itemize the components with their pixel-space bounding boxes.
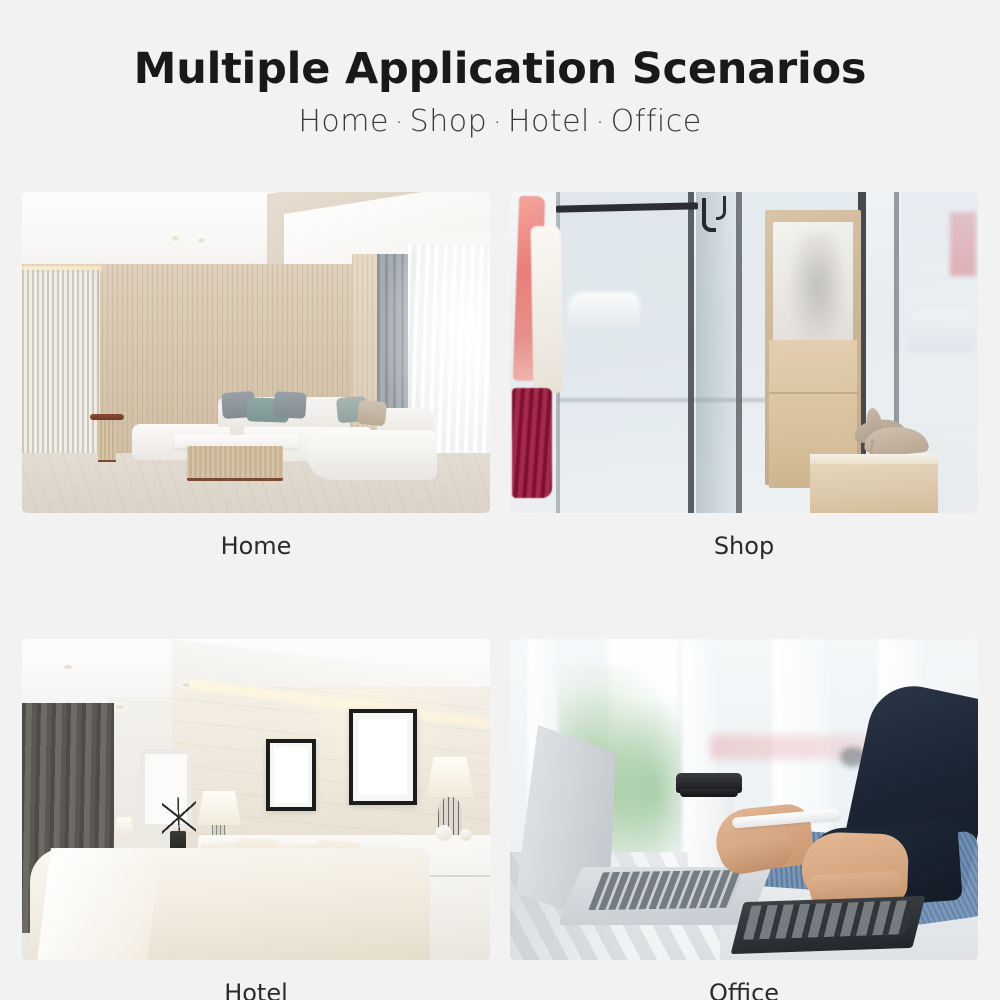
picture-mat	[274, 747, 308, 803]
subtitle-part-office: Office	[611, 104, 702, 139]
cushion	[273, 391, 306, 419]
cushion	[357, 400, 387, 427]
scenario-card-home: Home	[22, 192, 490, 560]
window-frame	[736, 192, 742, 513]
subtitle-separator-3: ·	[590, 108, 611, 138]
scenario-image-home	[22, 192, 490, 513]
nightstand	[420, 835, 490, 960]
page-title: Multiple Application Scenarios	[0, 47, 1000, 92]
scenario-grid: Home	[22, 192, 978, 1000]
scenario-card-hotel: Hotel	[22, 639, 490, 1000]
wood-column-seam	[769, 392, 857, 394]
scenario-image-shop	[510, 192, 978, 513]
fluted-panel	[22, 270, 100, 456]
picture-mat	[359, 719, 407, 795]
ceiling-spotlight-icon	[116, 705, 124, 709]
sofa-chaise	[307, 430, 437, 480]
mirror-reflection	[788, 232, 842, 350]
calculator-keypad	[743, 900, 913, 940]
display-pedestal-top	[810, 454, 938, 464]
scenario-card-shop: Shop	[510, 192, 978, 560]
table-lamp-shade	[426, 757, 474, 797]
parked-car	[568, 292, 640, 330]
glass-panel	[558, 192, 688, 513]
ceiling-spotlight-icon	[182, 683, 190, 687]
page-subtitle: Home·Shop·Hotel·Office	[0, 106, 1000, 138]
scenario-image-hotel	[22, 639, 490, 960]
ceiling-spotlight-icon	[198, 238, 205, 243]
glass-panel	[696, 192, 738, 513]
coffee-table-base	[187, 446, 283, 481]
subtitle-part-home: Home	[298, 104, 389, 139]
scenario-image-office	[510, 639, 978, 960]
decor-sphere	[460, 829, 472, 841]
nightstand-drawer-line	[420, 875, 490, 877]
hook-icon	[702, 198, 716, 232]
scenario-card-office: Office	[510, 639, 978, 1000]
hook-icon	[716, 196, 726, 220]
page-header: Multiple Application Scenarios Home·Shop…	[0, 0, 1000, 138]
table-lamp-shade	[197, 791, 241, 825]
window-frame	[688, 192, 694, 513]
decor-sphere	[436, 825, 452, 841]
small-lamp	[114, 817, 134, 835]
decorative-branch	[162, 797, 196, 835]
subtitle-separator-2: ·	[487, 108, 508, 138]
subtitle-part-shop: Shop	[410, 104, 487, 139]
hanging-garment-white	[531, 226, 564, 394]
ceiling-spotlight-icon	[172, 236, 179, 241]
side-table-leg	[98, 420, 116, 462]
application-scenarios-page: Multiple Application Scenarios Home·Shop…	[0, 0, 1000, 1000]
coffee-cup-lid-rim	[680, 789, 738, 797]
subtitle-separator-1: ·	[389, 108, 410, 138]
scenario-caption-office: Office	[510, 960, 978, 1000]
hanging-garment-burgundy	[512, 388, 552, 498]
scenario-caption-hotel: Hotel	[22, 960, 490, 1000]
ceiling-spotlight-icon	[64, 665, 72, 669]
laptop-keyboard	[588, 870, 744, 910]
scenario-caption-home: Home	[22, 513, 490, 560]
scenario-caption-shop: Shop	[510, 513, 978, 560]
subtitle-part-hotel: Hotel	[508, 104, 590, 139]
bed-runner	[37, 848, 161, 960]
